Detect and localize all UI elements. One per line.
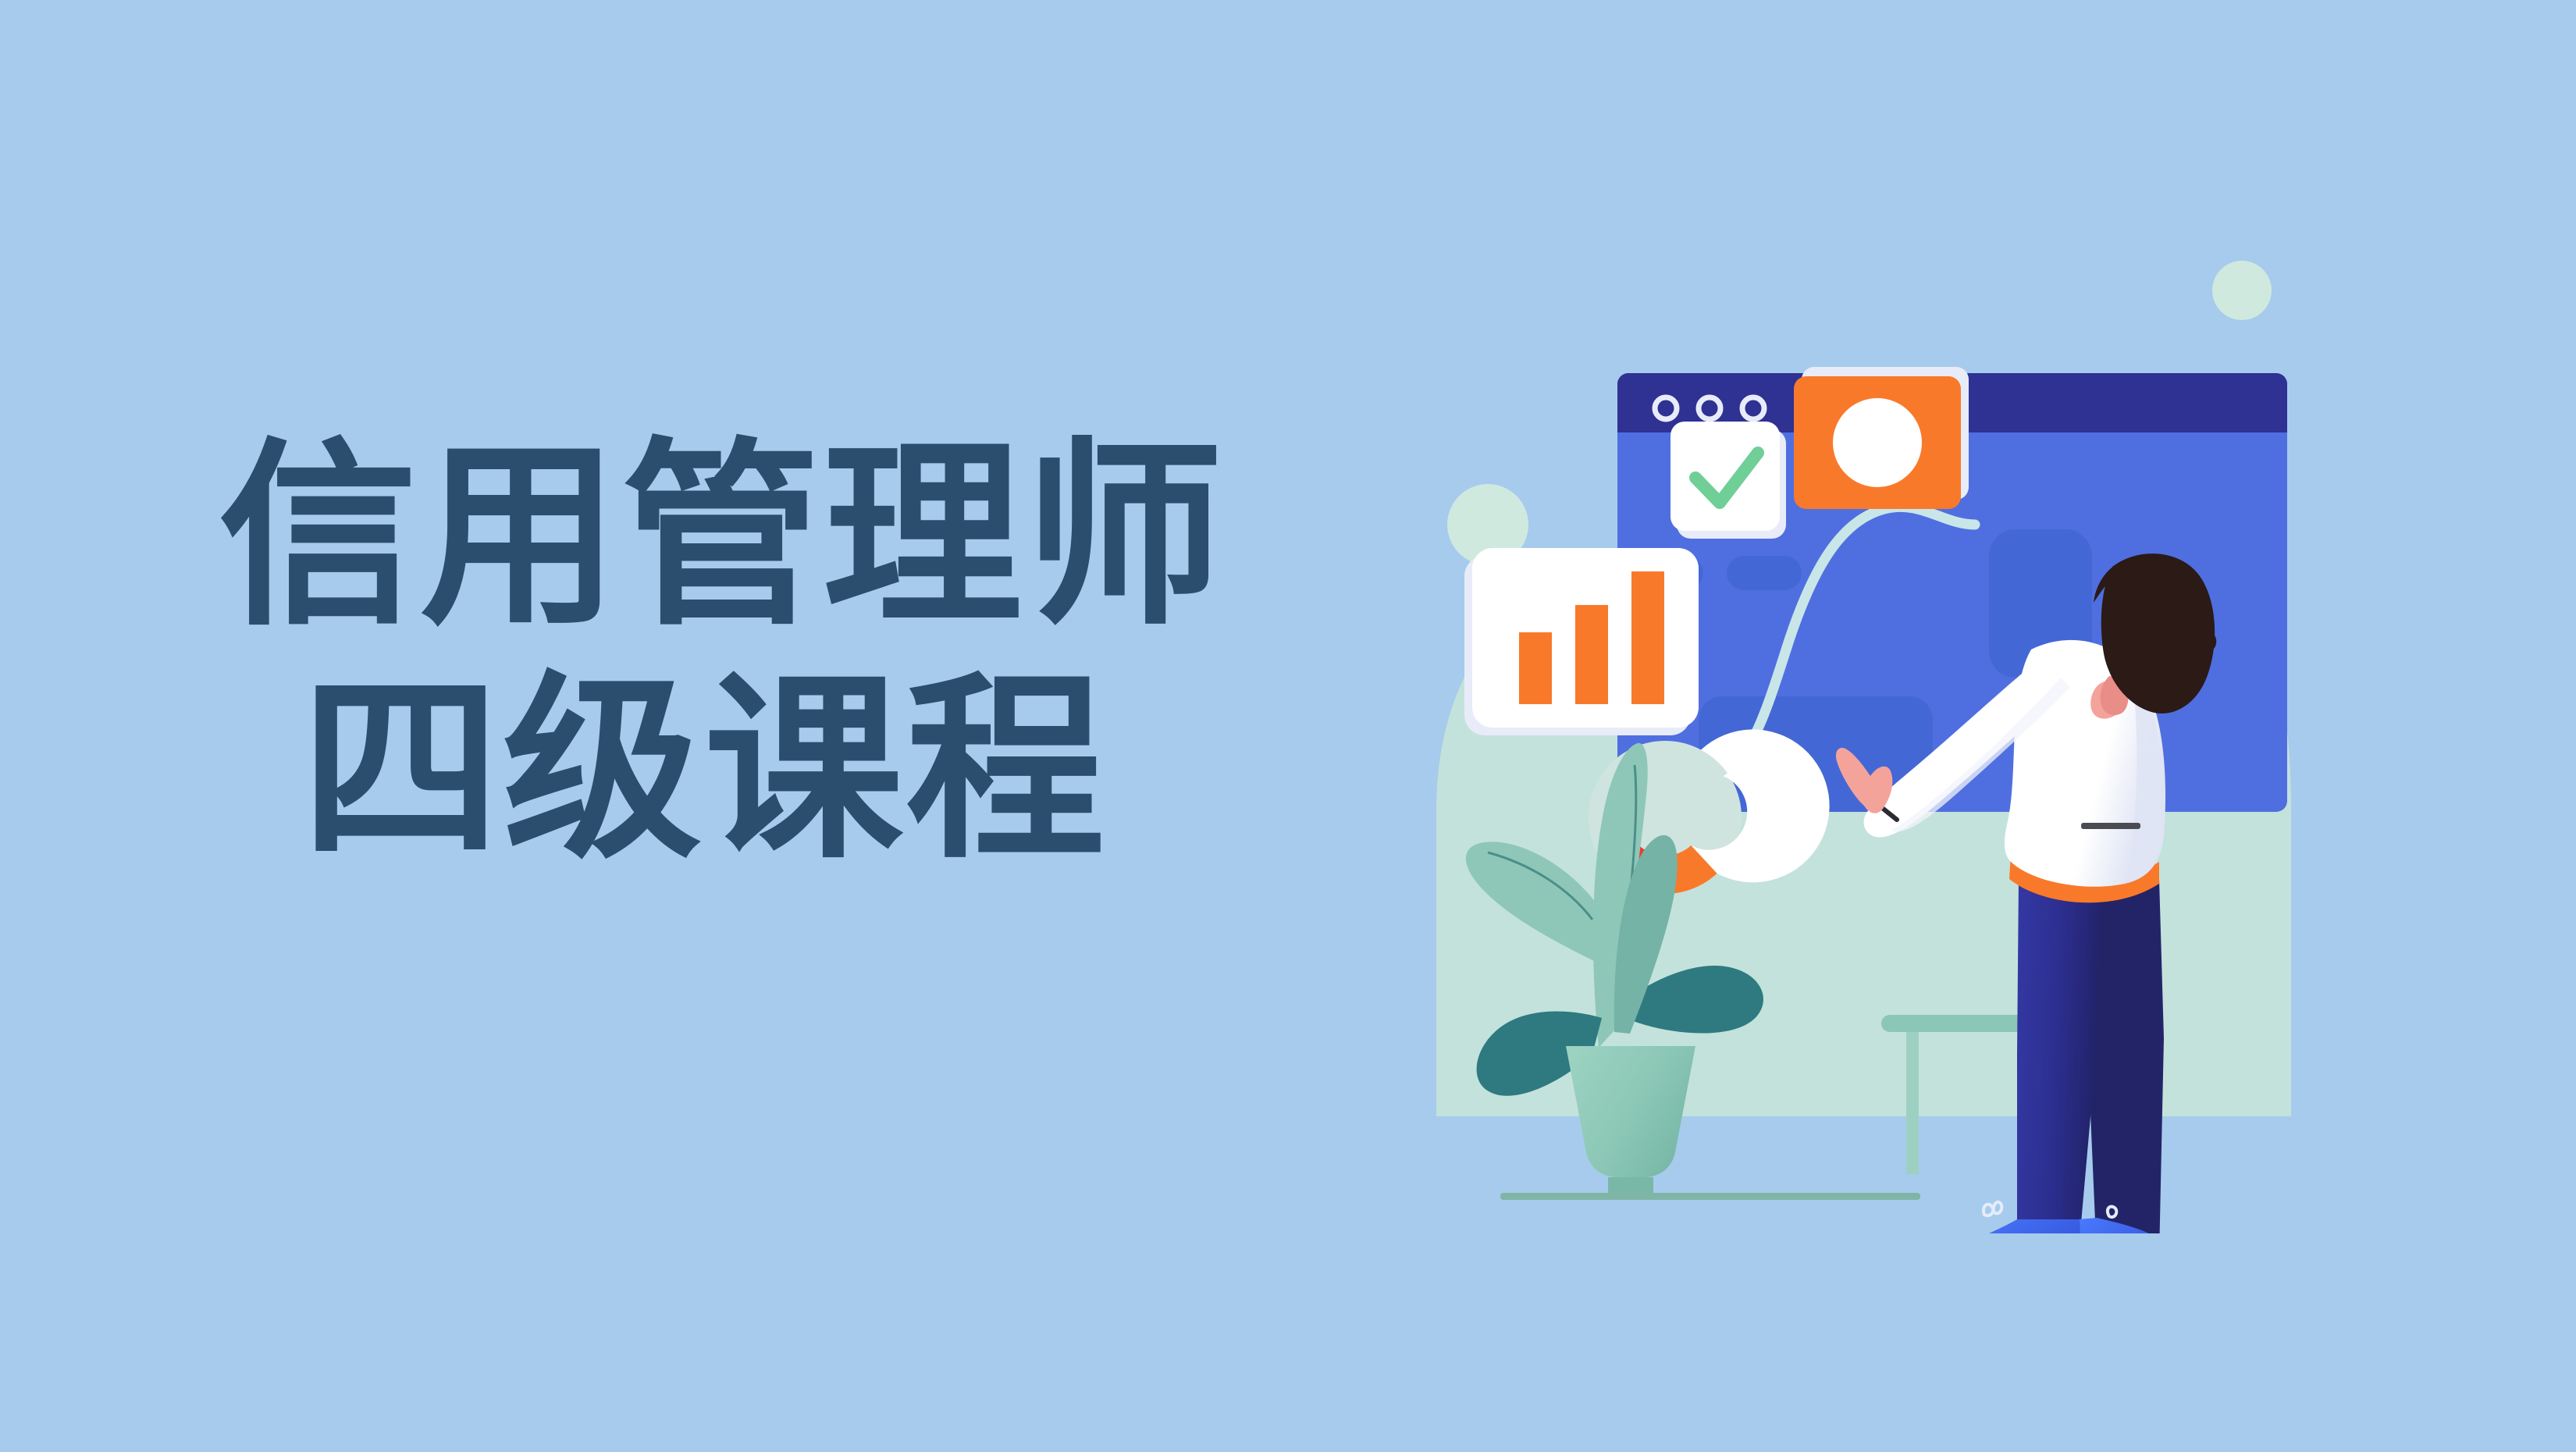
title-line-secondary: 四级课程: [301, 671, 1107, 870]
ground-line-left: [1500, 1193, 1920, 1200]
check-card-surface: [1670, 422, 1780, 531]
green-circle-small-right: [2212, 261, 2272, 320]
bar-chart-bar: [1519, 632, 1552, 704]
title-line-primary: 信用管理师: [219, 437, 1226, 636]
bar-chart-bar: [1575, 605, 1608, 704]
bar-chart-bar: [1631, 571, 1664, 704]
avatar: [1833, 398, 1922, 487]
pocket-mark: [2081, 823, 2140, 829]
check-card: [1670, 422, 1786, 539]
page-title: 信用管理师 四级课程: [219, 437, 1374, 870]
orange-avatar-card: [1794, 367, 1969, 509]
bar-chart-card: [1464, 548, 1699, 735]
desk-leg: [1906, 1032, 1919, 1174]
plant-pot-base: [1608, 1177, 1653, 1194]
content-bar: [1727, 556, 1802, 590]
hero-illustration: [1327, 219, 2545, 1233]
poster-canvas: 信用管理师 四级课程: [0, 0, 2576, 1452]
